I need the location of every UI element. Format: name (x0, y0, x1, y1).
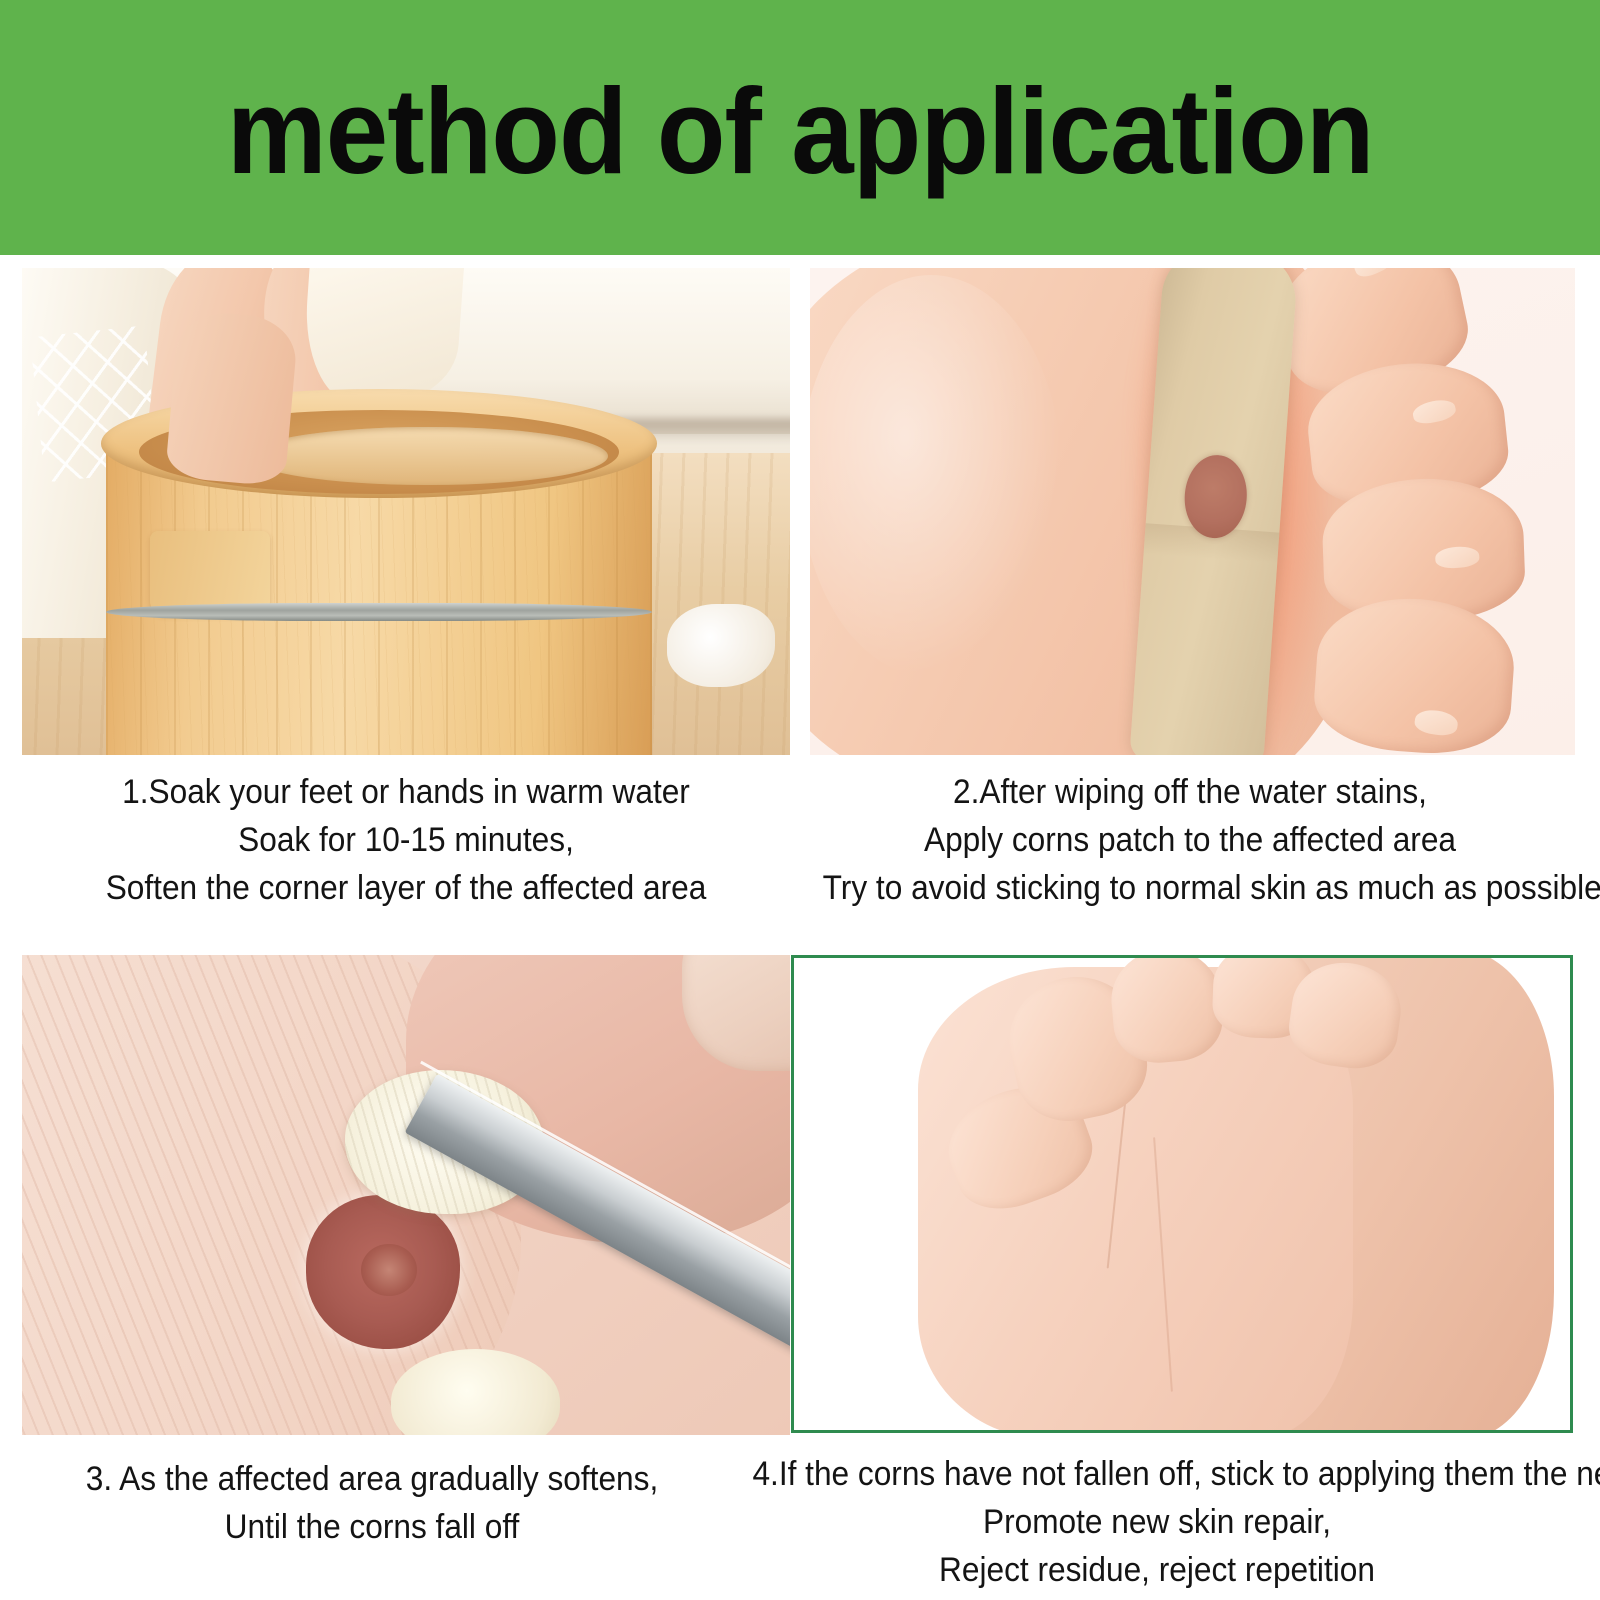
step-2-image (810, 268, 1575, 755)
step-2-caption: 2.After wiping off the water stains, App… (823, 768, 1558, 912)
page-title: method of application (227, 70, 1374, 192)
caption-line: 3. As the affected area gradually soften… (47, 1455, 698, 1503)
step-3-caption: 3. As the affected area gradually soften… (47, 1455, 698, 1551)
toenail (1414, 707, 1460, 737)
corn-core (361, 1244, 416, 1296)
toenail (1351, 268, 1397, 281)
healthy-feet-result-photo (794, 958, 1570, 1430)
caption-line: 1.Soak your feet or hands in warm water (49, 768, 763, 816)
foot-in-water (165, 309, 299, 486)
step-1-caption: 1.Soak your feet or hands in warm water … (49, 768, 763, 912)
toenail (682, 955, 790, 1071)
caption-line: Until the corns fall off (47, 1503, 698, 1551)
toenail (1411, 397, 1458, 427)
infographic-page: method of application (0, 0, 1600, 1600)
foot-contour-line (1153, 1138, 1173, 1392)
step-3-image (22, 955, 790, 1435)
caption-line: Try to avoid sticking to normal skin as … (823, 864, 1558, 912)
metal-band (106, 603, 651, 622)
corn-removal-closeup-photo (22, 955, 790, 1435)
wooden-bucket (106, 414, 651, 755)
caption-line: Reject residue, reject repetition (752, 1546, 1561, 1594)
caption-line: Soften the corner layer of the affected … (49, 864, 763, 912)
caption-line: Soak for 10-15 minutes, (49, 816, 763, 864)
step-1-image (22, 268, 790, 755)
toenail (1435, 546, 1480, 570)
header-banner: method of application (0, 0, 1600, 255)
caption-line: 4.If the corns have not fallen off, stic… (752, 1450, 1561, 1498)
corn-patch-applied-to-foot-photo (810, 268, 1575, 755)
towel (667, 604, 775, 687)
step-4-image (791, 955, 1573, 1433)
sole-highlight (810, 275, 1062, 677)
warm-water-surface (248, 427, 608, 486)
toe (1311, 592, 1518, 755)
caption-line: Apply corns patch to the affected area (823, 816, 1558, 864)
step-4-caption: 4.If the corns have not fallen off, stic… (752, 1450, 1561, 1594)
caption-line: Promote new skin repair, (752, 1498, 1561, 1546)
caption-line: 2.After wiping off the water stains, (823, 768, 1558, 816)
foot-soak-wooden-bucket-photo (22, 268, 790, 755)
affected-area (306, 1195, 460, 1349)
